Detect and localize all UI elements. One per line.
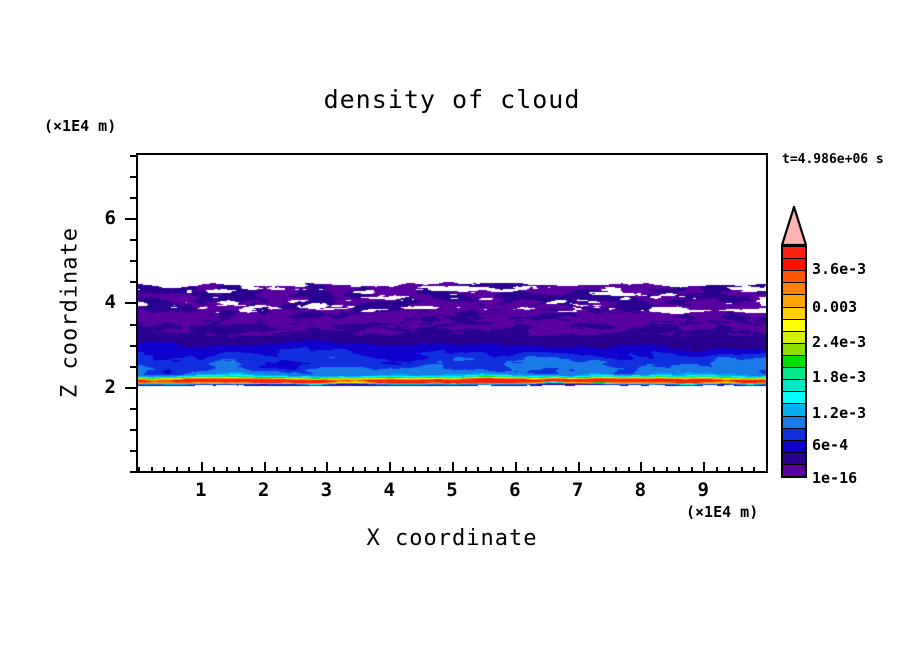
plot-area [136,153,768,473]
x-tick-major [452,462,454,473]
y-tick-minor [130,324,136,326]
colorbar-band [783,308,805,320]
x-tick-major [515,462,517,473]
colorbar-band [783,429,805,441]
colorbar-band [783,320,805,332]
x-tick-minor [490,467,492,473]
colorbar-tick-label: 3.6e-3 [812,260,866,278]
x-tick-minor [653,467,655,473]
x-tick-minor [213,467,215,473]
y-tick-minor [130,260,136,262]
x-tick-minor [289,467,291,473]
y-axis-unit-label: (×1E4 m) [44,117,116,135]
x-tick-label: 2 [258,479,269,501]
colorbar-bands [781,245,807,478]
colorbar-band [783,356,805,368]
page-title: density of cloud [0,85,904,114]
y-tick-major [125,387,136,389]
colorbar-tick-label: 6e-4 [812,436,848,454]
x-tick-minor [552,467,554,473]
x-tick-minor [402,467,404,473]
x-tick-minor [339,467,341,473]
x-tick-major [578,462,580,473]
y-tick-minor [130,366,136,368]
contour-field [138,155,766,471]
y-axis-ticks: 246 [136,153,137,473]
x-tick-minor [251,467,253,473]
x-tick-minor [540,467,542,473]
x-tick-major [201,462,203,473]
x-tick-minor [138,467,140,473]
colorbar-band [783,344,805,356]
x-tick-minor [226,467,228,473]
x-tick-minor [603,467,605,473]
x-tick-minor [364,467,366,473]
y-tick-minor [130,155,136,157]
x-tick-major [640,462,642,473]
x-tick-minor [188,467,190,473]
x-tick-major [389,462,391,473]
colorbar-band [783,271,805,283]
y-tick-minor [130,429,136,431]
x-tick-label: 7 [572,479,583,501]
x-tick-minor [276,467,278,473]
colorbar-tick-label: 1e-16 [812,469,857,487]
x-tick-label: 6 [509,479,520,501]
colorbar-band [783,380,805,392]
x-tick-minor [590,467,592,473]
x-tick-minor [741,467,743,473]
colorbar-tick-label: 2.4e-3 [812,333,866,351]
colorbar-band [783,392,805,404]
x-tick-minor [465,467,467,473]
colorbar-tick-label: 1.8e-3 [812,368,866,386]
y-tick-major [125,218,136,220]
x-tick-minor [414,467,416,473]
x-tick-minor [716,467,718,473]
colorbar-band [783,465,805,476]
colorbar-band [783,295,805,307]
y-tick-minor [130,281,136,283]
x-tick-minor [163,467,165,473]
y-tick-label: 6 [105,207,116,229]
x-tick-minor [691,467,693,473]
x-tick-minor [301,467,303,473]
x-tick-label: 9 [697,479,708,501]
x-tick-major [703,462,705,473]
x-tick-minor [728,467,730,473]
x-tick-major [326,462,328,473]
x-tick-label: 4 [383,479,394,501]
time-annotation: t=4.986e+06 s [782,152,884,167]
y-tick-minor [130,345,136,347]
colorbar-band [783,417,805,429]
x-tick-label: 3 [321,479,332,501]
x-tick-minor [565,467,567,473]
y-tick-minor [130,471,136,473]
colorbar-tick-labels: 3.6e-30.0032.4e-31.8e-31.2e-36e-41e-16 [812,206,904,486]
x-tick-minor [238,467,240,473]
x-tick-minor [427,467,429,473]
x-axis-ticks: 123456789 [136,473,768,474]
y-tick-minor [130,176,136,178]
x-tick-minor [314,467,316,473]
colorbar-band [783,283,805,295]
y-tick-minor [130,239,136,241]
x-tick-minor [678,467,680,473]
colorbar-band [783,332,805,344]
x-tick-major [264,462,266,473]
colorbar-tick-label: 1.2e-3 [812,404,866,422]
y-tick-label: 2 [105,376,116,398]
x-tick-label: 5 [446,479,457,501]
y-tick-minor [130,197,136,199]
x-tick-minor [352,467,354,473]
colorbar-tick-label: 0.003 [812,298,857,316]
x-tick-minor [628,467,630,473]
y-axis-title: Z coordinate [58,203,83,423]
colorbar [781,206,807,478]
x-tick-minor [766,467,768,473]
colorbar-band [783,453,805,465]
colorbar-band [783,368,805,380]
colorbar-band [783,247,805,259]
x-tick-minor [753,467,755,473]
x-tick-label: 8 [635,479,646,501]
x-tick-minor [439,467,441,473]
x-tick-minor [176,467,178,473]
colorbar-band [783,259,805,271]
colorbar-band [783,441,805,453]
colorbar-overflow-arrow-icon [781,206,807,246]
y-tick-label: 4 [105,291,116,313]
y-tick-minor [130,450,136,452]
colorbar-band [783,404,805,416]
x-tick-label: 1 [195,479,206,501]
x-tick-minor [615,467,617,473]
x-axis-title: X coordinate [0,526,904,551]
x-tick-minor [527,467,529,473]
x-axis-unit-label: (×1E4 m) [686,503,758,521]
x-tick-minor [377,467,379,473]
x-tick-minor [477,467,479,473]
y-tick-major [125,302,136,304]
y-tick-minor [130,408,136,410]
x-tick-minor [666,467,668,473]
x-tick-minor [502,467,504,473]
x-tick-minor [151,467,153,473]
